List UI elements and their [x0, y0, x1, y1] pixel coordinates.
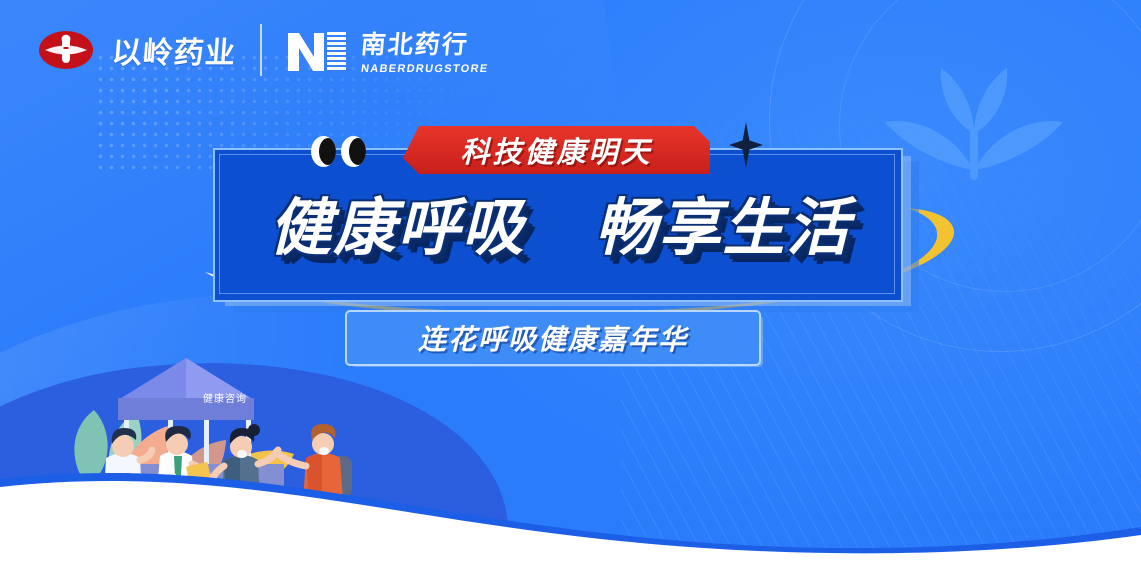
hero-title-block: 科技健康明天 健康呼吸 畅享生活 连花呼吸健康嘉年华 — [205, 120, 925, 330]
primary-logo-text-wrap: 以岭药业 — [112, 33, 236, 67]
hero-headline: 健康呼吸 畅享生活 — [235, 162, 885, 282]
secondary-logo-wrap: 南北药行 NABERDRUGSTORE — [286, 25, 488, 75]
primary-logo-name: 以岭药业 — [110, 28, 237, 72]
promo-banner: 以岭药业 南北药行 NABERDRUGSTORE — [0, 0, 1141, 569]
secondary-logo-text-wrap: 南北药行 NABERDRUGSTORE — [361, 25, 488, 75]
white-wave-curve-icon — [0, 359, 1141, 569]
nb-monogram-icon — [286, 27, 348, 73]
vertical-divider-icon — [260, 24, 262, 76]
secondary-logo-name: 南北药行 — [359, 25, 490, 61]
hero-subtitle-text: 连花呼吸健康嘉年华 — [418, 318, 688, 358]
hero-headline-left: 健康呼吸 — [269, 191, 525, 264]
logo-lockup: 以岭药业 南北药行 NABERDRUGSTORE — [38, 24, 488, 76]
yiling-oval-emblem-icon — [38, 30, 94, 70]
hero-headline-right: 畅享生活 — [595, 191, 851, 264]
secondary-logo-english: NABERDRUGSTORE — [360, 63, 489, 75]
